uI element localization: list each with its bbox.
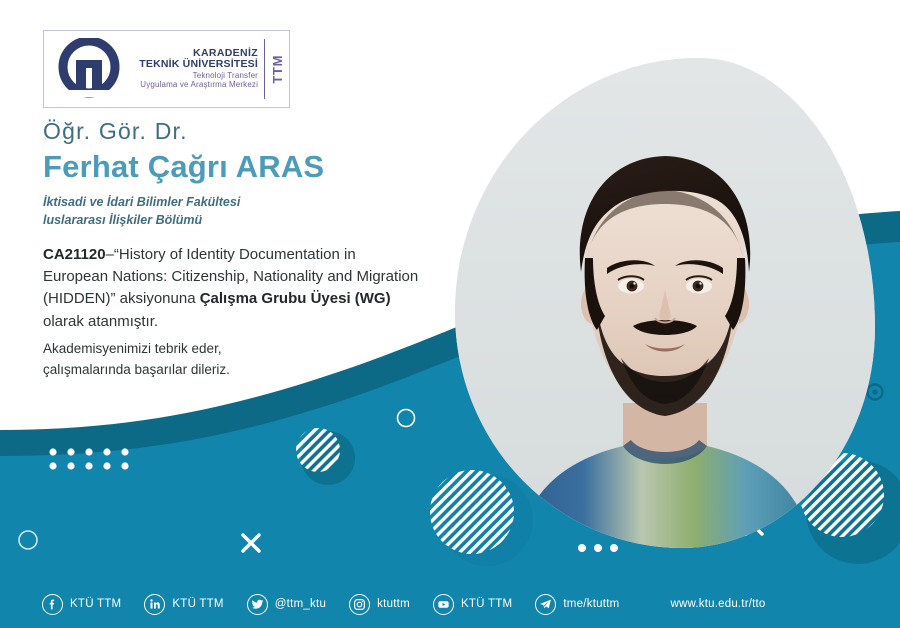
faculty-line-2: luslararası İlişkiler Bölümü <box>43 212 240 230</box>
person-name: Ferhat Çağrı ARAS <box>43 149 324 185</box>
ktu-ttm-logo: KARADENİZ TEKNİK ÜNİVERSİTESİ Teknoloji … <box>43 30 290 108</box>
social-instagram[interactable]: ktuttm <box>349 594 410 615</box>
logo-line-2: TEKNİK ÜNİVERSİTESİ <box>126 59 258 70</box>
logo-line-4: Uygulama ve Araştırma Merkezi <box>126 81 258 90</box>
portrait-blob: Portrait photo of Ferhat Çağrı ARAS <box>455 58 875 548</box>
youtube-icon <box>433 594 454 615</box>
announcement-body-part2: olarak atanmıştır. <box>43 313 158 330</box>
social-youtube-handle: KTÜ TTM <box>461 598 512 610</box>
social-twitter-handle: @ttm_ktu <box>275 598 326 610</box>
linkedin-icon <box>144 594 165 615</box>
social-youtube[interactable]: KTÜ TTM <box>433 594 512 615</box>
assigned-role: Çalışma Grubu Üyesi (WG) <box>200 290 391 307</box>
striped-circle-small <box>296 428 340 472</box>
closing-message: Akademisyenimizi tebrik eder, çalışmalar… <box>43 339 373 380</box>
logo-line-3: Teknoloji Transfer <box>126 72 258 81</box>
closing-line-2: çalışmalarında başarılar dileriz. <box>43 360 373 381</box>
website-url[interactable]: www.ktu.edu.tr/tto <box>671 598 766 610</box>
social-telegram[interactable]: tme/ktuttm <box>535 594 619 615</box>
social-twitter[interactable]: @ttm_ktu <box>247 594 326 615</box>
portrait-illustration: Portrait photo of Ferhat Çağrı ARAS <box>455 58 875 548</box>
social-facebook[interactable]: KTÜ TTM <box>42 594 121 615</box>
logo-ttm-label: TTM <box>270 55 285 84</box>
logo-ttm-badge: TTM <box>265 55 289 84</box>
twitter-icon <box>247 594 268 615</box>
faculty-info: İktisadi ve İdari Bilimler Fakültesi lus… <box>43 194 240 230</box>
logo-text-block: KARADENİZ TEKNİK ÜNİVERSİTESİ Teknoloji … <box>126 48 264 90</box>
title-prefix: Öğr. Gör. Dr. <box>43 118 188 145</box>
action-code: CA21120 <box>43 246 106 263</box>
social-linkedin-handle: KTÜ TTM <box>172 598 223 610</box>
facebook-icon <box>42 594 63 615</box>
social-telegram-handle: tme/ktuttm <box>563 598 619 610</box>
social-facebook-handle: KTÜ TTM <box>70 598 121 610</box>
telegram-icon <box>535 594 556 615</box>
announcement-card: Portrait photo of Ferhat Çağrı ARAS <box>0 0 900 628</box>
social-instagram-handle: ktuttm <box>377 598 410 610</box>
instagram-icon <box>349 594 370 615</box>
ktu-monogram-icon <box>52 38 126 100</box>
announcement-body: CA21120–“History of Identity Documentati… <box>43 244 421 333</box>
social-linkedin[interactable]: KTÜ TTM <box>144 594 223 615</box>
closing-line-1: Akademisyenimizi tebrik eder, <box>43 339 373 360</box>
faculty-line-1: İktisadi ve İdari Bilimler Fakültesi <box>43 194 240 212</box>
footer-social-bar: KTÜ TTM KTÜ TTM @ttm_ktu <box>0 580 900 628</box>
